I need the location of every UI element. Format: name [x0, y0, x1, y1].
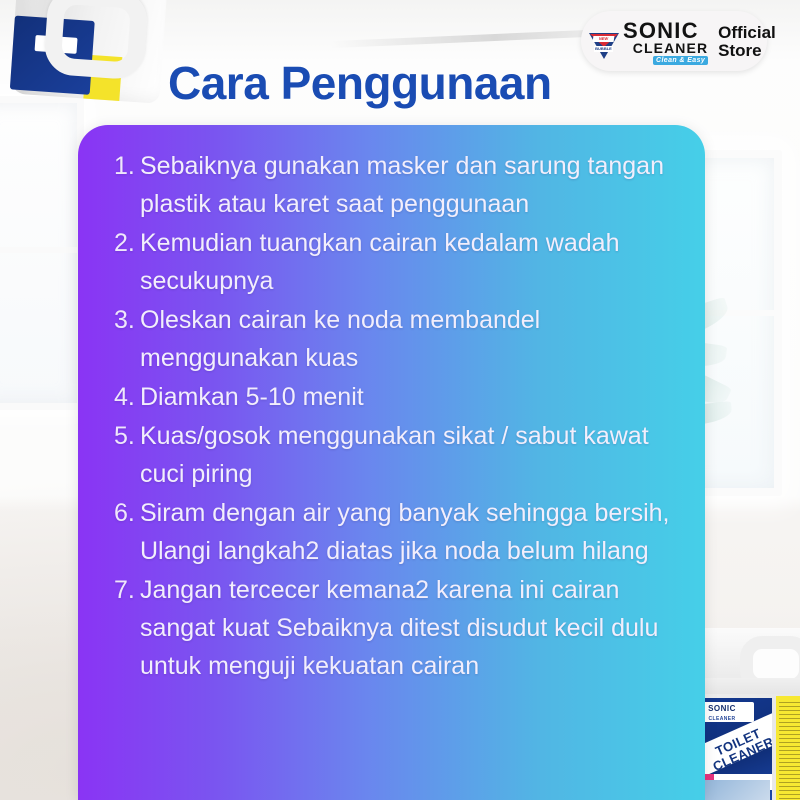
brand-name-line1: SONIC: [623, 20, 708, 42]
step-text: Sebaiknya gunakan masker dan sarung tang…: [140, 147, 683, 223]
emblem-top-label: NEW: [593, 36, 615, 42]
step-number: 5.: [114, 417, 140, 455]
step-item: 5.Kuas/gosok menggunakan sikat / sabut k…: [114, 417, 683, 493]
step-text: Diamkan 5-10 menit: [140, 378, 683, 416]
step-item: 2.Kemudian tuangkan cairan kedalam wadah…: [114, 224, 683, 300]
shield-icon: NEW BUBBLE: [589, 29, 619, 63]
emblem-bottom-label: BUBBLE: [594, 46, 613, 52]
official-store-line2: Store: [718, 42, 776, 60]
instructions-card: 1.Sebaiknya gunakan masker dan sarung ta…: [78, 125, 705, 800]
step-number: 2.: [114, 224, 140, 262]
step-text: Jangan tercecer kemana2 karena ini caira…: [140, 571, 683, 685]
step-number: 4.: [114, 378, 140, 416]
step-number: 1.: [114, 147, 140, 185]
step-item: 4.Diamkan 5-10 menit: [114, 378, 683, 416]
brand-lockup: SONIC CLEANER Clean & Easy: [623, 20, 708, 65]
official-store-line1: Official: [718, 24, 776, 42]
brand-tagline: Clean & Easy: [653, 56, 708, 65]
steps-list: 1.Sebaiknya gunakan masker dan sarung ta…: [78, 125, 705, 685]
window-left: [0, 96, 84, 410]
official-store-label: Official Store: [718, 24, 776, 60]
product-bottle-top-left: [0, 0, 172, 104]
step-text: Siram dengan air yang banyak sehingga be…: [140, 494, 683, 570]
store-badge[interactable]: NEW BUBBLE SONIC CLEANER Clean & Easy Of…: [581, 11, 767, 71]
page-title: Cara Penggunaan: [168, 56, 552, 110]
bottle-brand-name: SONIC: [708, 704, 736, 713]
brand-name-line2: CLEANER: [623, 41, 708, 55]
step-number: 6.: [114, 494, 140, 532]
step-item: 3.Oleskan cairan ke noda membandel mengg…: [114, 301, 683, 377]
step-number: 7.: [114, 571, 140, 609]
step-text: Kuas/gosok menggunakan sikat / sabut kaw…: [140, 417, 683, 493]
step-item: 6.Siram dengan air yang banyak sehingga …: [114, 494, 683, 570]
promo-graphic: SONIC CLEANER TOILET CLEANER NEW BUBBLE …: [0, 0, 800, 800]
step-number: 3.: [114, 301, 140, 339]
step-text: Oleskan cairan ke noda membandel menggun…: [140, 301, 683, 377]
step-text: Kemudian tuangkan cairan kedalam wadah s…: [140, 224, 683, 300]
step-item: 7.Jangan tercecer kemana2 karena ini cai…: [114, 571, 683, 685]
step-item: 1.Sebaiknya gunakan masker dan sarung ta…: [114, 147, 683, 223]
